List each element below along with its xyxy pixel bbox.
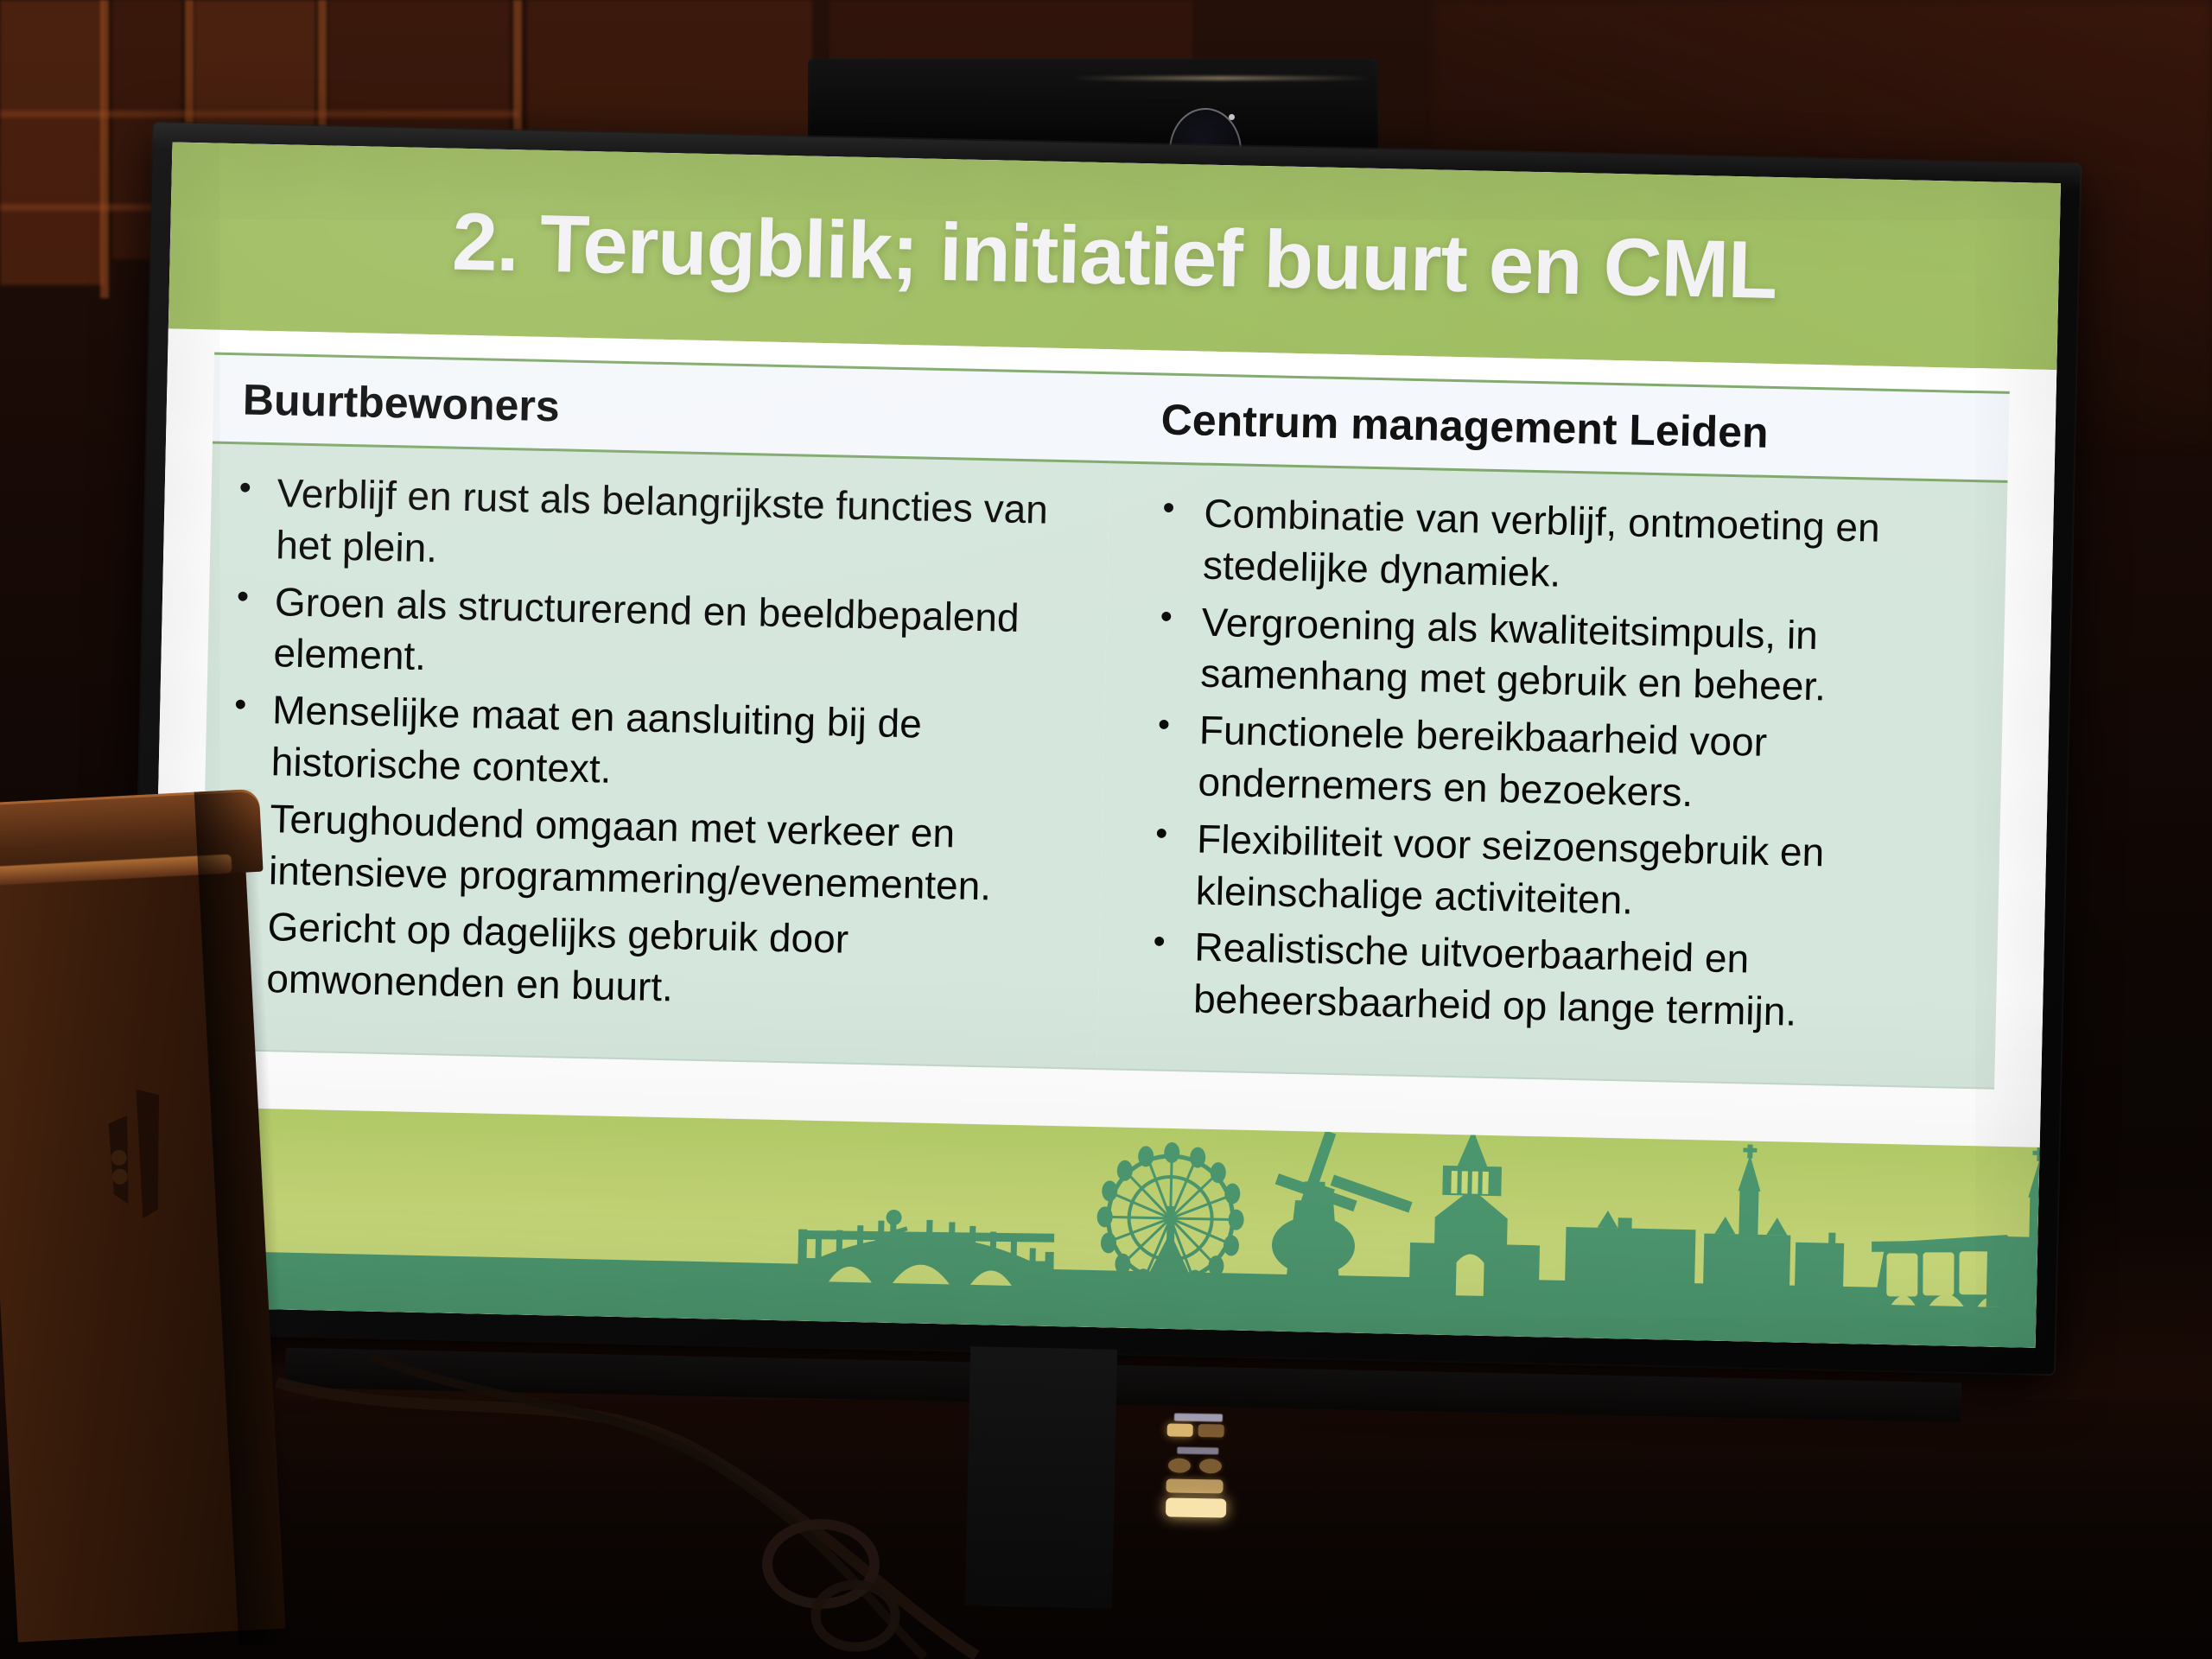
control-panel-label [1174,1414,1223,1422]
wall-rail [0,111,518,118]
crest-logo-icon [92,1088,178,1222]
comparison-table: Buurtbewoners Centrum management Leiden … [200,353,2010,1090]
list-item: Terughoudend omgaan met verkeer en inten… [220,792,1073,914]
loose-cables [216,1348,1253,1659]
list-item: Menselijke maat en aansluiting bij de hi… [222,683,1075,805]
table-body: Verblijf en rust als belangrijkste funct… [200,442,2008,1089]
display-control-panel[interactable] [1164,1413,1231,1517]
slide-footer-band [147,1106,2040,1348]
table-row: Verblijf en rust als belangrijkste funct… [200,442,2008,1089]
wooden-lectern [0,789,303,1658]
control-button[interactable] [1199,1459,1222,1473]
photo-scene: 2. Terugblik; initiatief buurt en CML Bu… [0,0,2212,1659]
control-button[interactable] [1166,1478,1223,1493]
wall-panel [0,0,104,285]
wall-mounted-display: 2. Terugblik; initiatief buurt en CML Bu… [126,123,2158,1427]
camera-indicator-dot [1229,114,1235,120]
camera-bar-highlight [1070,76,1372,80]
wall-panel [527,0,812,138]
cell-centrum-management-leiden: Combinatie van verblijf, ontmoeting en s… [1096,462,2007,1089]
wall-mullion [100,0,109,298]
list-item: Flexibiliteit voor seizoensgebruik en kl… [1138,812,1970,934]
list-item: Realistische uitvoerbaarheid en beheersb… [1136,920,1968,1042]
power-button[interactable] [1166,1497,1226,1517]
list-item: Combinatie van verblijf, ontmoeting en s… [1145,486,1977,608]
leiden-skyline-icon [147,1106,2040,1348]
display-screen: 2. Terugblik; initiatief buurt en CML Bu… [147,142,2061,1347]
slide-title: 2. Terugblik; initiatief buurt en CML [451,195,1777,317]
control-button[interactable] [1167,1423,1193,1437]
bullet-list-buurtbewoners: Verblijf en rust als belangrijkste funct… [218,467,1080,1022]
list-item: Functionele bereikbaarheid voor ondernem… [1141,703,1973,825]
slide-body: Buurtbewoners Centrum management Leiden … [151,328,2056,1147]
control-button[interactable] [1168,1458,1191,1472]
control-button[interactable] [1198,1424,1224,1438]
presentation-slide: 2. Terugblik; initiatief buurt en CML Bu… [147,142,2061,1347]
list-item: Verblijf en rust als belangrijkste funct… [227,467,1080,588]
cell-buurtbewoners: Verblijf en rust als belangrijkste funct… [200,442,1110,1069]
list-item: Groen als structurerend en beeldbepalend… [225,575,1077,697]
list-item: Gericht op dagelijks gebruik door omwone… [218,900,1071,1022]
bullet-list-centrum-management: Combinatie van verblijf, ontmoeting en s… [1136,486,1978,1042]
list-item: Vergroening als kwaliteitsimpuls, in sam… [1143,595,1975,717]
control-panel-label [1177,1447,1218,1455]
